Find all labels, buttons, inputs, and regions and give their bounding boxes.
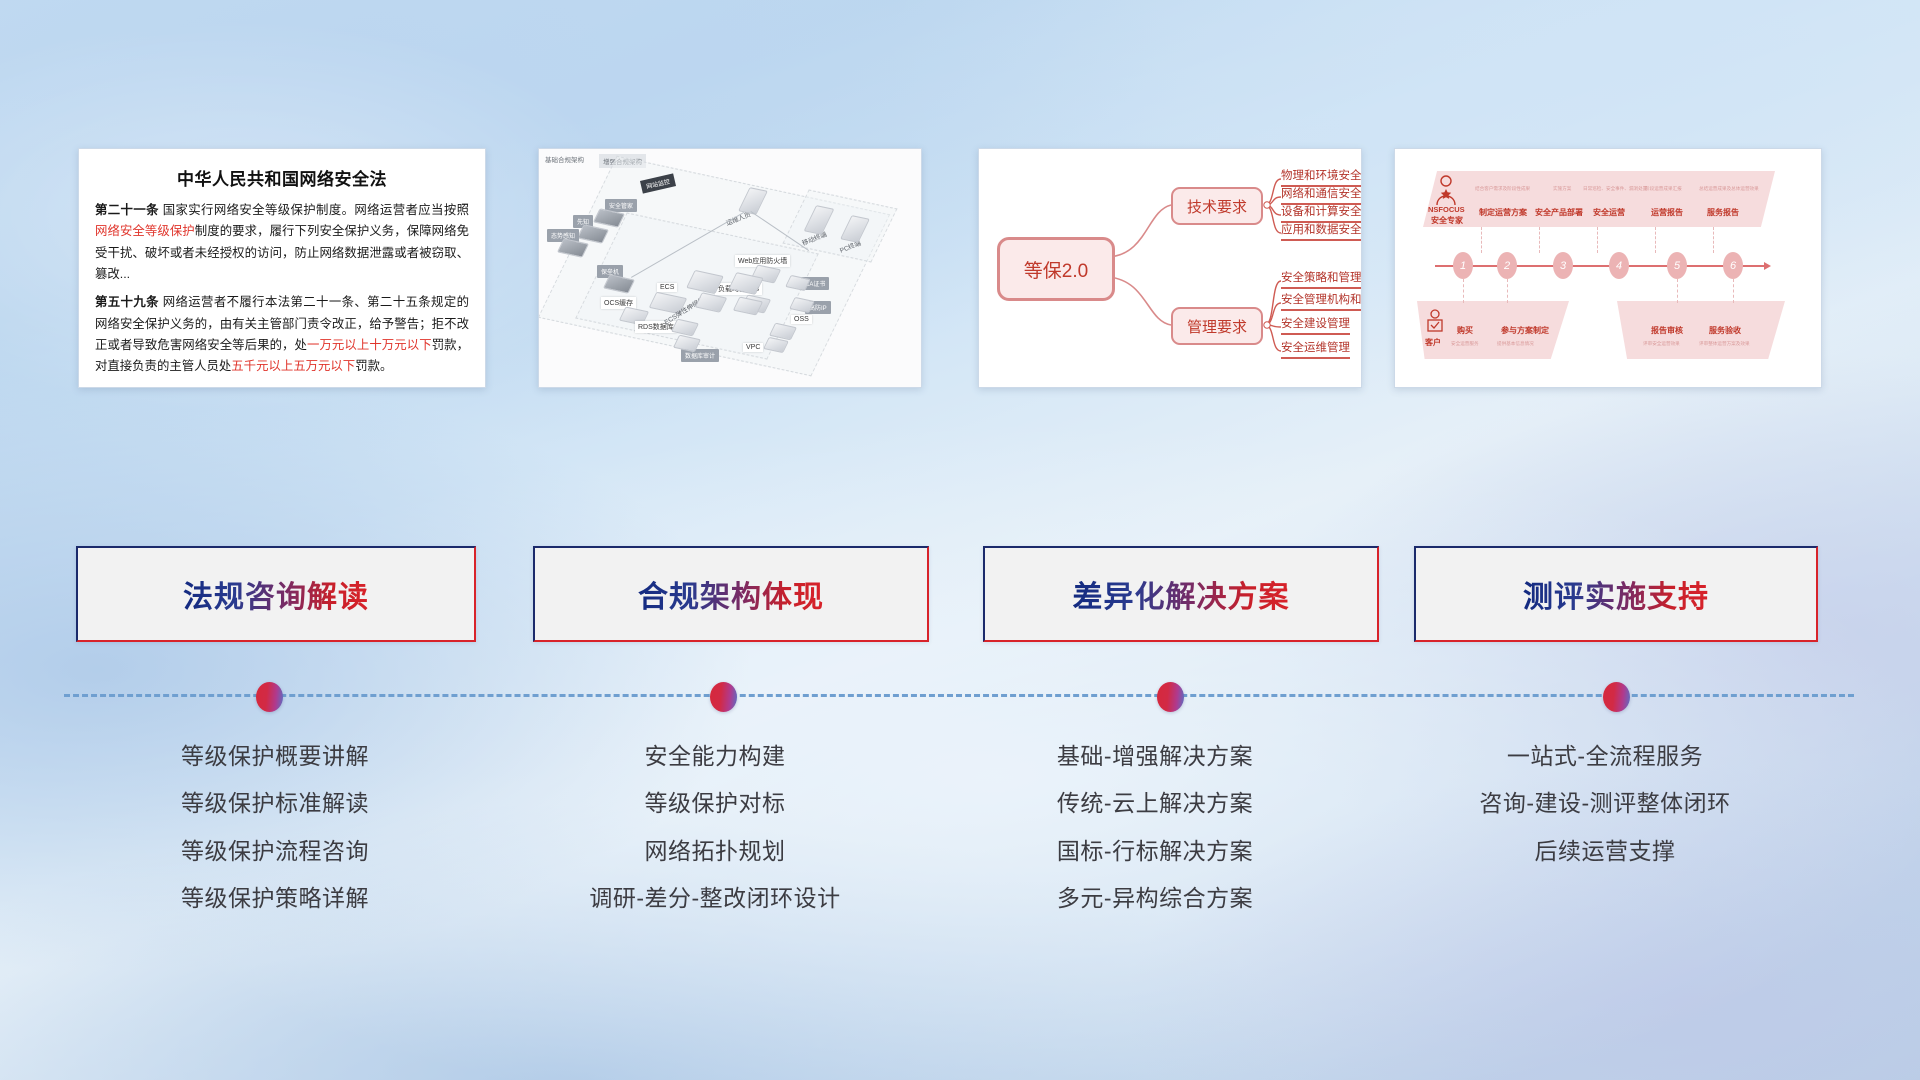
arch-label-vpc: VPC [743,343,763,352]
service-list-column-2: 安全能力构建 等级保护对标 网络拓扑规划 调研-差分-整改闭环设计 [500,744,930,933]
step-number-5: 5 [1667,252,1687,279]
mindmap-leaf-tech-1: 物理和环境安全 [1281,167,1362,187]
connector-dash-1 [1481,227,1483,253]
arch-node-ops-staff [743,189,761,211]
top-step-1-title: 制定运营方案 [1479,207,1527,218]
arch-node-pc [845,217,863,239]
nsfocus-customer-band-right [1617,301,1785,359]
title-box-regulation-consulting[interactable]: 法规咨询解读 [76,546,476,642]
expert-brand-label: NSFOCUS [1428,205,1465,214]
customer-person-icon [1425,309,1445,335]
arch-node-scaling-d [735,299,759,311]
law-article-59: 第五十九条 网络运营者不履行本法第二十一条、第二十五条规定的网络安全保护义务的，… [95,292,469,377]
top-step-3-sub: 日常巡检、安全事件、漏洞处置 [1583,186,1647,192]
step-number-1: 1 [1453,252,1473,279]
bottom-step-1-title: 购买 [1457,325,1473,336]
card-compliance-architecture[interactable]: 基础合规架构 增强合规架构 网站监控 安全管家 先知 态势感知 保垒机 ECS … [538,148,922,388]
list-item: 等级保护流程咨询 [60,839,490,864]
service-list-column-1: 等级保护概要讲解 等级保护标准解读 等级保护流程咨询 等级保护策略详解 [60,744,490,933]
nsfocus-timeline: NSFOCUS 安全专家 结合客户需求及阶段性成果 制定运营方案 实施方案 安全… [1395,149,1821,387]
arch-node-xianzhi [579,227,605,239]
arch-node-oss [771,325,793,336]
arch-label-db-audit: 数据库审计 [681,349,719,362]
top-step-5-title: 服务报告 [1707,207,1739,218]
title-box-differentiated-solution[interactable]: 差异化解决方案 [983,546,1379,642]
bottom-step-4-sub: 评审整体运营方案及效果 [1699,341,1750,347]
law-title: 中华人民共和国网络安全法 [95,165,469,190]
arch-header-basic: 基础合规架构 [545,154,584,164]
nsfocus-expert-band [1423,171,1775,227]
list-item: 网络拓扑规划 [500,839,930,864]
article-21-label: 第二十一条 [95,203,159,217]
arch-label-ecs: ECS [657,283,677,292]
step-number-6: 6 [1723,252,1743,279]
title-box-compliance-architecture[interactable]: 合规架构体现 [533,546,929,642]
article-59-text-c: 罚款。 [355,359,392,373]
mindmap-leaf-tech-4: 应用和数据安全 [1281,221,1362,241]
law-article-21: 第二十一条 国家实行网络安全等级保护制度。网络运营者应当按照网络安全等级保护制度… [95,200,469,285]
arch-node-rds [673,321,695,332]
arch-node-mobile [809,207,827,231]
mindmap-leaf-tech-2: 网络和通信安全 [1281,185,1362,205]
article-21-highlight: 网络安全等级保护 [95,224,195,238]
list-item: 国标-行标解决方案 [940,839,1370,864]
top-step-2-title: 安全产品部署 [1535,207,1583,218]
mindmap-branch-tech[interactable]: 技术要求 [1171,187,1263,225]
title-label-1: 法规咨询解读 [183,572,369,616]
mindmap-leaf-mgmt-1: 安全策略和管理制度 [1281,269,1362,289]
bottom-step-3-sub: 评审安全运营效果 [1643,341,1680,347]
connector-dash-6 [1463,279,1465,303]
timeline-marker-2[interactable] [710,682,737,712]
arch-node-bastion [605,277,631,289]
bottom-step-4-title: 服务验收 [1709,325,1741,336]
card-mindmap-dengbao[interactable]: 等保2.0 技术要求 管理要求 物理和环境安全 网络和通信安全 设备和计算安全 … [978,148,1362,388]
arch-node-vpc [765,339,785,349]
list-item: 等级保护策略详解 [60,886,490,911]
mindmap-leaf-tech-3: 设备和计算安全 [1281,203,1362,223]
article-59-highlight-2: 五千元以上五万元以下 [231,359,355,373]
arch-node-security-steward [595,211,621,223]
list-item: 安全能力构建 [500,744,930,769]
mindmap-leaf-mgmt-2: 安全管理机构和人员 [1281,291,1362,311]
top-step-4-sub: 阶段运营成果汇报 [1645,186,1682,192]
bottom-step-2-sub: 提供基本信息情况 [1497,341,1534,347]
arch-node-ocs [621,309,645,321]
customer-role-label: 客户 [1425,337,1441,348]
title-label-2: 合规架构体现 [638,572,824,616]
arch-node-scaling-b [697,295,723,308]
timeline-dashed-line [64,694,1854,697]
mindmap: 等保2.0 技术要求 管理要求 物理和环境安全 网络和通信安全 设备和计算安全 … [979,149,1361,387]
connector-dash-8 [1677,279,1679,303]
title-label-3: 差异化解决方案 [1073,572,1290,616]
bottom-step-3-title: 报告审核 [1651,325,1683,336]
step-number-2: 2 [1497,252,1517,279]
card-cybersecurity-law[interactable]: 中华人民共和国网络安全法 第二十一条 国家实行网络安全等级保护制度。网络运营者应… [78,148,486,388]
arch-node-anti-ddos [791,299,811,309]
reference-cards-row: 中华人民共和国网络安全法 第二十一条 国家实行网络安全等级保护制度。网络运营者应… [0,148,1920,388]
slide-stage: 中华人民共和国网络安全法 第二十一条 国家实行网络安全等级保护制度。网络运营者应… [0,0,1920,1080]
article-59-highlight-1: 一万元以上十万元以下 [307,338,432,352]
mindmap-leaf-mgmt-4: 安全运维管理 [1281,339,1350,359]
list-item: 传统-云上解决方案 [940,791,1370,816]
timeline-marker-4[interactable] [1603,682,1630,712]
title-label-4: 测评实施支持 [1523,572,1709,616]
timeline-marker-1[interactable] [256,682,283,712]
arch-node-scaling-c [731,275,759,290]
list-item: 咨询-建设-测评整体闭环 [1385,791,1825,816]
list-item: 等级保护概要讲解 [60,744,490,769]
arch-label-oss: OSS [791,315,812,324]
list-item: 基础-增强解决方案 [940,744,1370,769]
step-number-3: 3 [1553,252,1573,279]
top-step-3-title: 安全运营 [1593,207,1625,218]
top-step-1-sub: 结合客户需求及阶段性成果 [1475,186,1530,192]
architecture-diagram: 基础合规架构 增强合规架构 网站监控 安全管家 先知 态势感知 保垒机 ECS … [539,149,921,387]
service-list-column-3: 基础-增强解决方案 传统-云上解决方案 国标-行标解决方案 多元-异构综合方案 [940,744,1370,933]
step-number-4: 4 [1609,252,1629,279]
timeline-axis [1435,265,1765,267]
list-item: 一站式-全流程服务 [1385,744,1825,769]
list-item: 调研-差分-整改闭环设计 [500,886,930,911]
top-step-5-sub: 总结运营成果及总体运营效果 [1699,186,1759,192]
service-list-column-4: 一站式-全流程服务 咨询-建设-测评整体闭环 后续运营支撑 [1385,744,1825,886]
connector-dash-3 [1597,227,1599,253]
arch-node-db-audit [675,337,697,348]
expert-person-icon [1433,175,1459,209]
connector-dash-2 [1539,227,1541,253]
list-item: 等级保护对标 [500,791,930,816]
connector-dash-9 [1733,279,1735,303]
mindmap-root-node[interactable]: 等保2.0 [997,237,1115,301]
section-title-row: 法规咨询解读 合规架构体现 差异化解决方案 测评实施支持 [0,546,1920,646]
article-59-label: 第五十九条 [95,295,159,309]
arch-node-situational-awareness [559,241,585,253]
bottom-step-1-sub: 安全运营服务 [1451,341,1479,347]
connector-dash-4 [1655,227,1657,253]
law-document: 中华人民共和国网络安全法 第二十一条 国家实行网络安全等级保护制度。网络运营者应… [79,149,485,387]
article-21-text-a: 国家实行网络安全等级保护制度。网络运营者应当按照 [159,203,469,217]
top-step-4-title: 运营报告 [1651,207,1683,218]
top-step-2-sub: 实施方案 [1553,186,1571,192]
mindmap-leaf-mgmt-3: 安全建设管理 [1281,315,1350,335]
card-nsfocus-service-flow[interactable]: NSFOCUS 安全专家 结合客户需求及阶段性成果 制定运营方案 实施方案 安全… [1394,148,1822,388]
mindmap-branch-mgmt[interactable]: 管理要求 [1171,307,1263,345]
bottom-step-2-title: 参与方案制定 [1501,325,1549,336]
list-item: 后续运营支撑 [1385,839,1825,864]
timeline-marker-3[interactable] [1157,682,1184,712]
arch-node-ca [787,277,807,287]
connector-dash-7 [1507,279,1509,303]
expert-role-label: 安全专家 [1431,215,1463,226]
arch-node-scaling-a [689,273,719,289]
list-item: 等级保护标准解读 [60,791,490,816]
connector-dash-5 [1713,227,1715,253]
title-box-assessment-support[interactable]: 测评实施支持 [1414,546,1818,642]
list-item: 多元-异构综合方案 [940,886,1370,911]
